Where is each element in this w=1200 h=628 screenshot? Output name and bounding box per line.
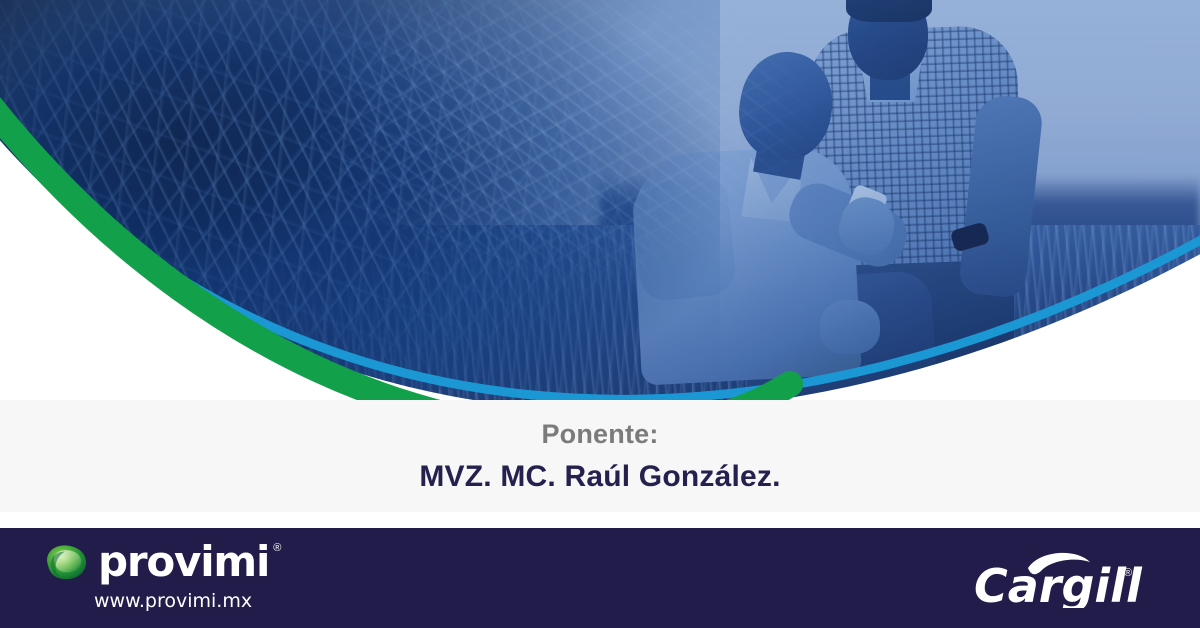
hero-white-cutout [0,92,1200,400]
speaker-name: MVZ. MC. Raúl González. [419,462,780,492]
speaker-role-label: Ponente: [541,421,658,448]
provimi-registered-mark: ® [273,543,280,554]
presentation-slide: Ponente: MVZ. MC. Raúl González. [0,0,1200,628]
provimi-wordmark: provimi ® [98,541,269,583]
hero-arc-overlay [0,0,1200,400]
provimi-leaf-icon [42,542,90,582]
provimi-brand-block[interactable]: provimi ® www.provimi.mx [42,540,342,611]
footer-bar: provimi ® www.provimi.mx Cargill ® [0,528,1200,628]
cargill-registered-mark: ® [1124,567,1132,579]
hero-banner [0,0,1200,400]
provimi-wordmark-text: provimi [98,537,269,586]
provimi-url[interactable]: www.provimi.mx [94,592,342,611]
cargill-logo: Cargill ® [972,546,1152,608]
speaker-band: Ponente: MVZ. MC. Raúl González. [0,400,1200,512]
band-divider [0,512,1200,528]
cargill-brand-block[interactable]: Cargill ® [972,546,1152,608]
cargill-wordmark-text: Cargill [974,559,1143,608]
